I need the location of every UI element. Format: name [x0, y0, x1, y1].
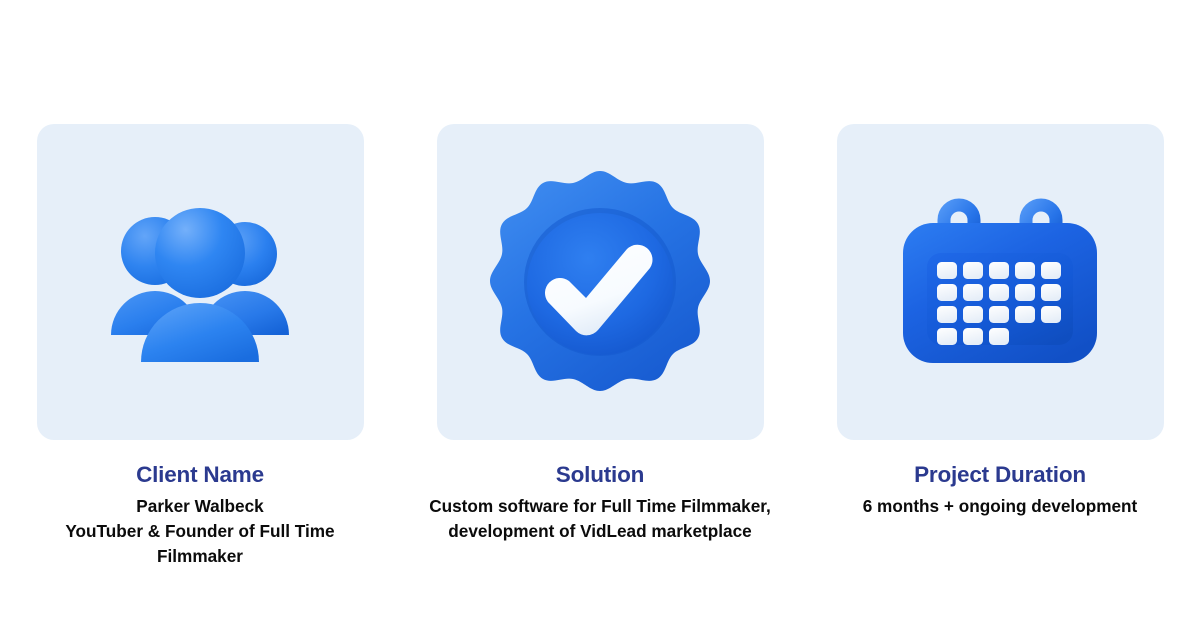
- highlight-column-project-duration: Project Duration 6 months + ongoing deve…: [800, 0, 1200, 519]
- heading-project-duration: Project Duration: [914, 463, 1086, 487]
- body-line: 6 months + ongoing development: [820, 494, 1180, 519]
- calendar-icon: [875, 157, 1125, 407]
- people-group-icon: [75, 157, 325, 407]
- highlight-columns: Client Name Parker Walbeck YouTuber & Fo…: [0, 0, 1200, 630]
- heading-client-name: Client Name: [136, 463, 264, 487]
- verified-badge-check-icon: [475, 157, 725, 407]
- icon-card-client-name: [37, 124, 364, 440]
- body-solution: Custom software for Full Time Filmmaker,…: [390, 494, 810, 544]
- heading-solution: Solution: [556, 463, 644, 487]
- body-project-duration: 6 months + ongoing development: [820, 494, 1180, 519]
- icon-card-solution: [437, 124, 764, 440]
- icon-card-project-duration: [837, 124, 1164, 440]
- body-line: Filmmaker: [30, 544, 370, 569]
- body-client-name: Parker Walbeck YouTuber & Founder of Ful…: [30, 494, 370, 569]
- body-line: Parker Walbeck: [30, 494, 370, 519]
- body-line: Custom software for Full Time Filmmaker,: [390, 494, 810, 519]
- body-line: development of VidLead marketplace: [390, 519, 810, 544]
- highlight-column-solution: Solution Custom software for Full Time F…: [400, 0, 800, 544]
- case-study-highlights-board: Client Name Parker Walbeck YouTuber & Fo…: [0, 0, 1200, 630]
- highlight-column-client-name: Client Name Parker Walbeck YouTuber & Fo…: [0, 0, 400, 568]
- body-line: YouTuber & Founder of Full Time: [30, 519, 370, 544]
